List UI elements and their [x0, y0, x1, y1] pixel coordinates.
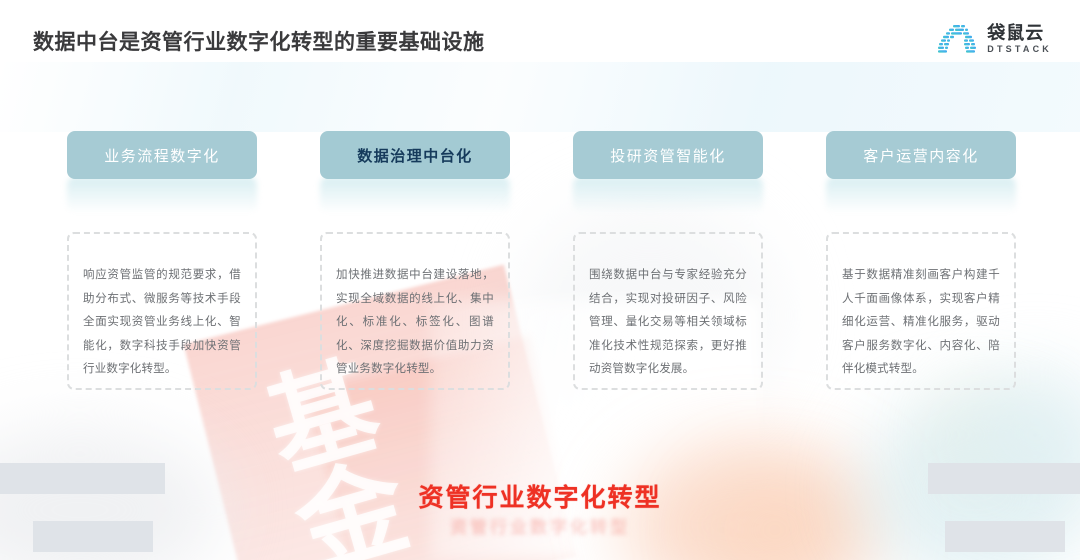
pillar-pill-1[interactable]: 业务流程数字化: [67, 131, 257, 179]
pillar-card-row: 响应资管监管的规范要求，借助分布式、微服务等技术手段全面实现资管业务线上化、智能…: [0, 232, 1080, 390]
pillar-card-3: 围绕数据中台与专家经验充分结合，实现对投研因子、风险管理、量化交易等相关领域标准…: [573, 232, 763, 390]
brand-logo: 袋鼠云 DTSTACK: [936, 24, 1052, 55]
pillar-card-2: 加快推进数据中台建设落地，实现全域数据的线上化、集中化、标准化、标签化、图谱化、…: [320, 232, 510, 390]
brand-text: 袋鼠云 DTSTACK: [987, 24, 1052, 55]
pillar-card-3-text: 围绕数据中台与专家经验充分结合，实现对投研因子、风险管理、量化交易等相关领域标准…: [589, 264, 747, 382]
pillar-card-1-text: 响应资管监管的规范要求，借助分布式、微服务等技术手段全面实现资管业务线上化、智能…: [83, 264, 241, 382]
pillar-pill-3[interactable]: 投研资管智能化: [573, 131, 763, 179]
slide-canvas: 基 金 数据中台是资管行业数字化转型的重要基础设施: [0, 0, 1080, 560]
footer-headline-ghost: 资管行业数字化转型: [0, 513, 1080, 538]
pillar-card-4-text: 基于数据精准刻画客户构建千人千面画像体系，实现客户精细化运营、精准化服务，驱动客…: [842, 264, 1000, 382]
decorative-bar-right-2: [945, 521, 1065, 552]
pixel-cloud-arch-icon: [936, 24, 978, 54]
brand-name-en: DTSTACK: [987, 44, 1052, 55]
page-title: 数据中台是资管行业数字化转型的重要基础设施: [33, 26, 485, 56]
pillar-card-1: 响应资管监管的规范要求，借助分布式、微服务等技术手段全面实现资管业务线上化、智能…: [67, 232, 257, 390]
pill-glow-1: [67, 177, 257, 213]
background-blob-yellow: [930, 400, 1050, 490]
pill-glow-2: [320, 177, 510, 213]
pillar-card-4: 基于数据精准刻画客户构建千人千面画像体系，实现客户精细化运营、精准化服务，驱动客…: [826, 232, 1016, 390]
decorative-bar-left-2: [33, 521, 153, 552]
footer-headline: 资管行业数字化转型: [0, 478, 1080, 514]
background-top-band: [0, 62, 1080, 132]
pillar-card-2-text: 加快推进数据中台建设落地，实现全域数据的线上化、集中化、标准化、标签化、图谱化、…: [336, 264, 494, 382]
pillar-pill-row: 业务流程数字化 数据治理中台化 投研资管智能化 客户运营内容化: [0, 131, 1080, 181]
pillar-pill-2[interactable]: 数据治理中台化: [320, 131, 510, 179]
pill-glow-4: [826, 177, 1016, 213]
pillar-pill-4[interactable]: 客户运营内容化: [826, 131, 1016, 179]
pill-glow-3: [573, 177, 763, 213]
brand-name-cn: 袋鼠云: [987, 24, 1052, 43]
